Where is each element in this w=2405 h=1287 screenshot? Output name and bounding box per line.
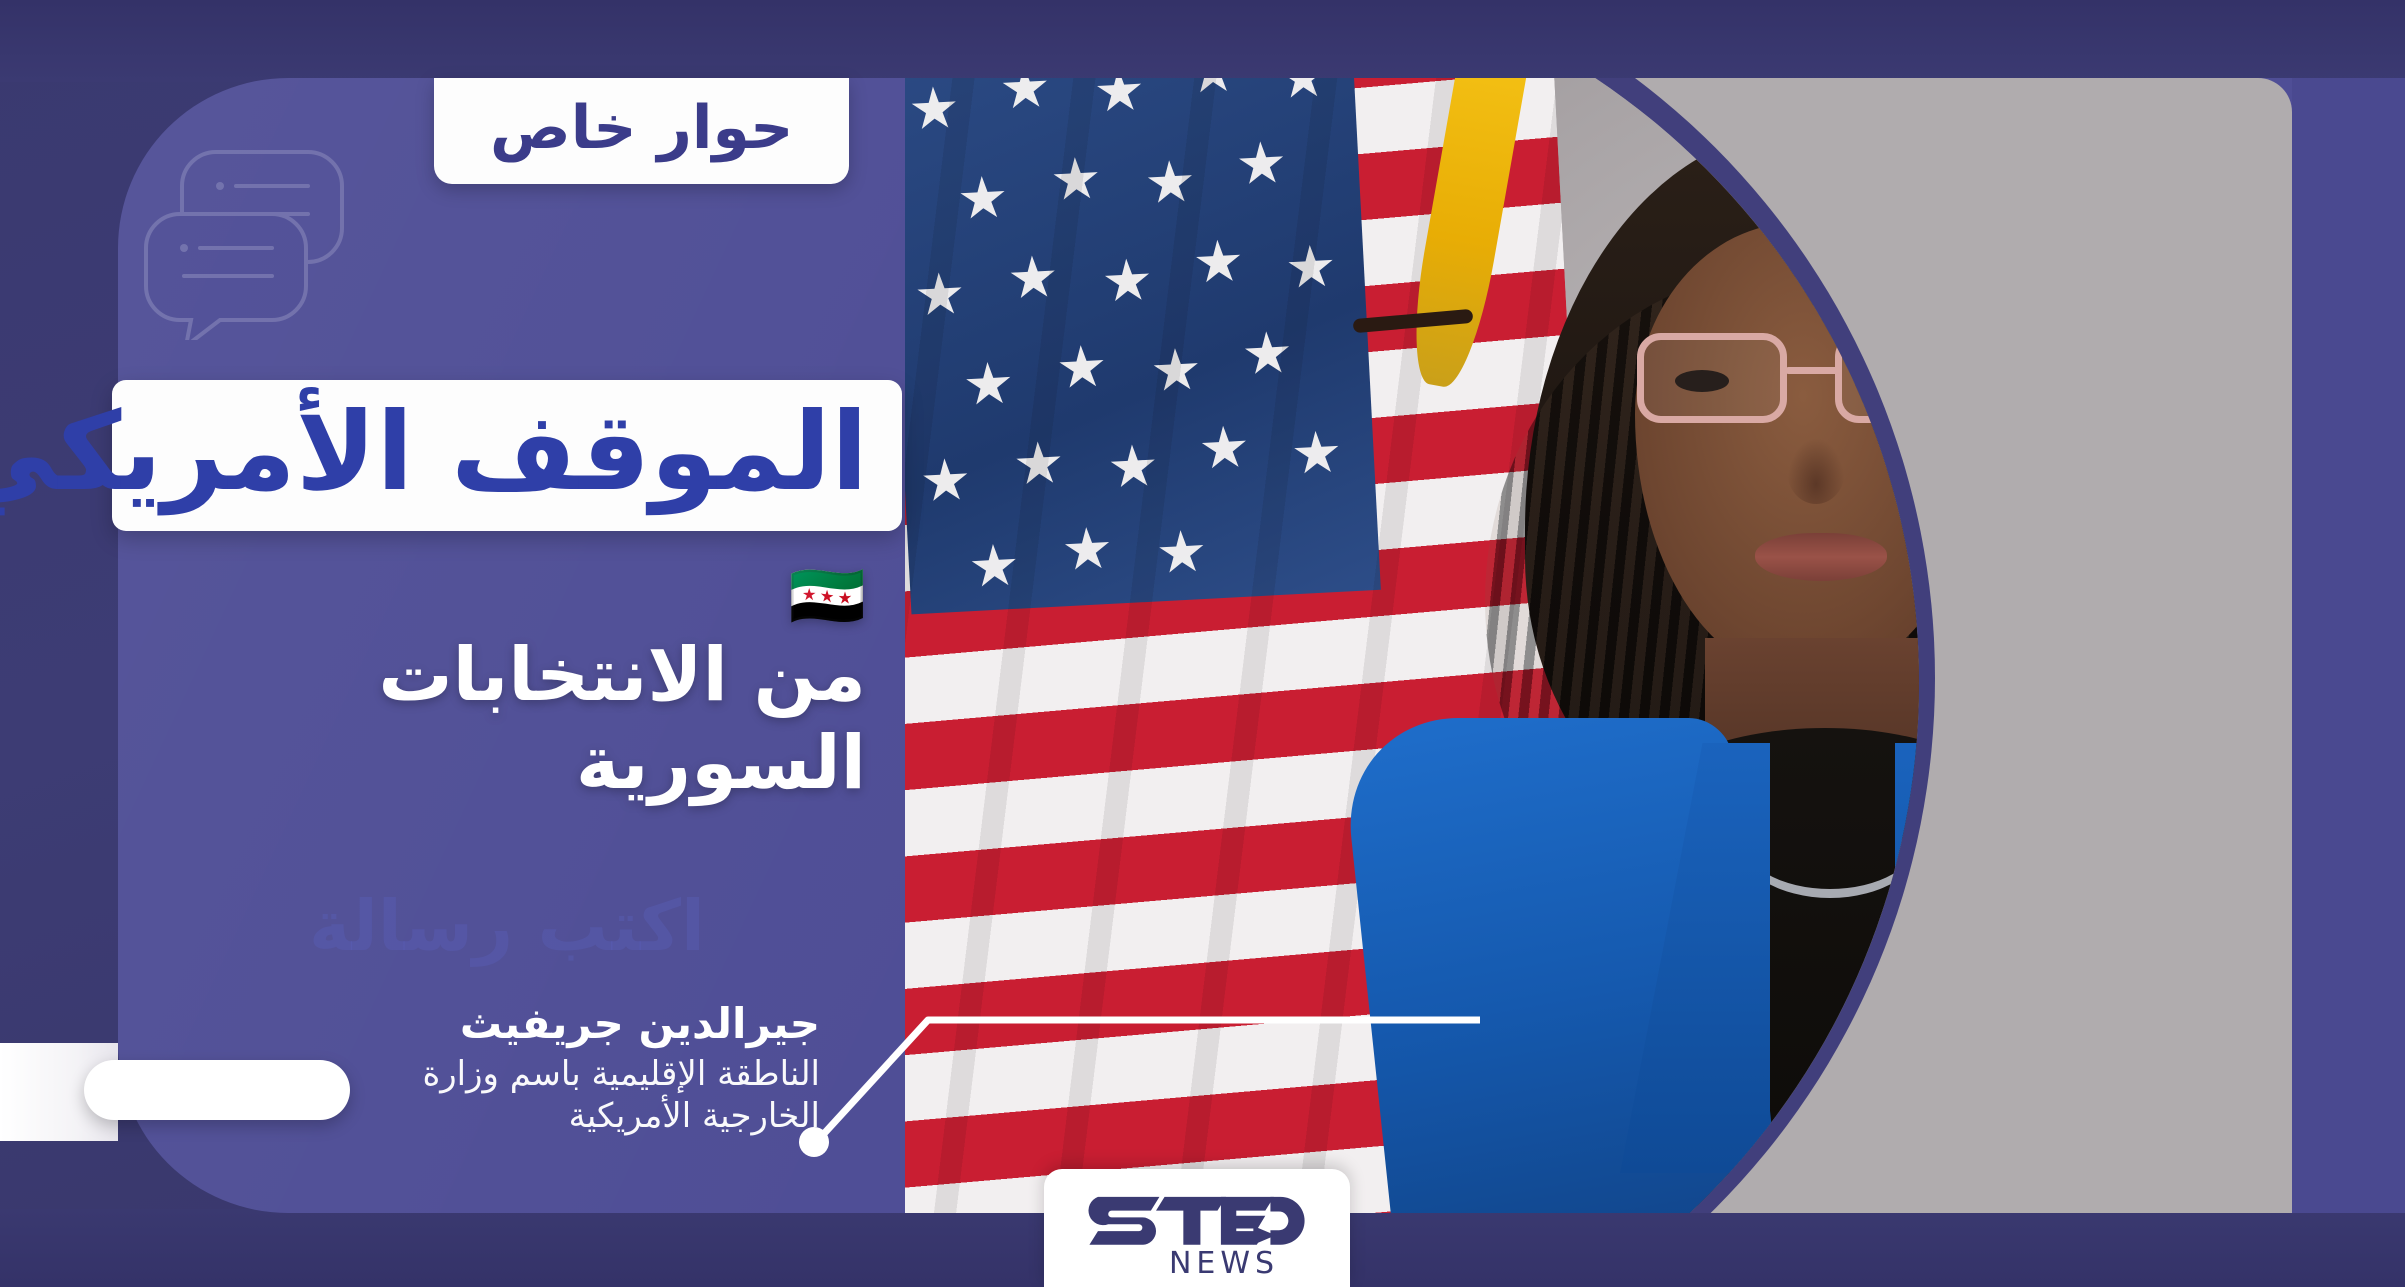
badge-special-interview: حوار خاص xyxy=(434,78,849,184)
syria-flag-icon: 🇸🇾 xyxy=(789,559,866,632)
lips xyxy=(1755,533,1887,581)
eyebrow-left xyxy=(1353,309,1474,333)
lens-right xyxy=(1835,333,1919,423)
headline-line-2-wrapper: 🇸🇾 من الانتخابات السورية xyxy=(112,545,902,807)
caption-connector-line xyxy=(790,990,1480,1170)
news-graphic-canvas: حوار خاص الموقف الأمريكي 🇸🇾 من الانتخابا… xyxy=(0,0,2405,1287)
speaker-caption: جيرالدين جريفيث الناطقة الإقليمية باسم و… xyxy=(300,1000,820,1137)
headline-box: الموقف الأمريكي xyxy=(112,380,902,531)
message-input-pill[interactable] xyxy=(84,1060,350,1120)
glasses-bridge xyxy=(1785,367,1841,374)
background-top-band xyxy=(0,0,2405,82)
step-news-logo: NEWS xyxy=(1044,1169,1350,1287)
headline-line-2: من الانتخابات السورية xyxy=(378,632,866,805)
news-wordmark: NEWS xyxy=(1169,1249,1279,1279)
headline-line-1: الموقف الأمريكي xyxy=(146,396,868,509)
step-wordmark xyxy=(1086,1183,1308,1245)
nose xyxy=(1787,438,1845,504)
speaker-role: الناطقة الإقليمية باسم وزارة الخارجية ال… xyxy=(300,1054,820,1137)
eyeglasses-icon xyxy=(1635,333,1919,425)
lapel-right xyxy=(1895,743,1919,1173)
chat-bubbles-icon xyxy=(128,140,358,340)
watermark-text: اكتب رسالة xyxy=(112,885,902,967)
lens-left xyxy=(1637,333,1787,423)
right-purple-strip xyxy=(2292,78,2405,1213)
speaker-name: جيرالدين جريفيث xyxy=(300,1000,820,1048)
